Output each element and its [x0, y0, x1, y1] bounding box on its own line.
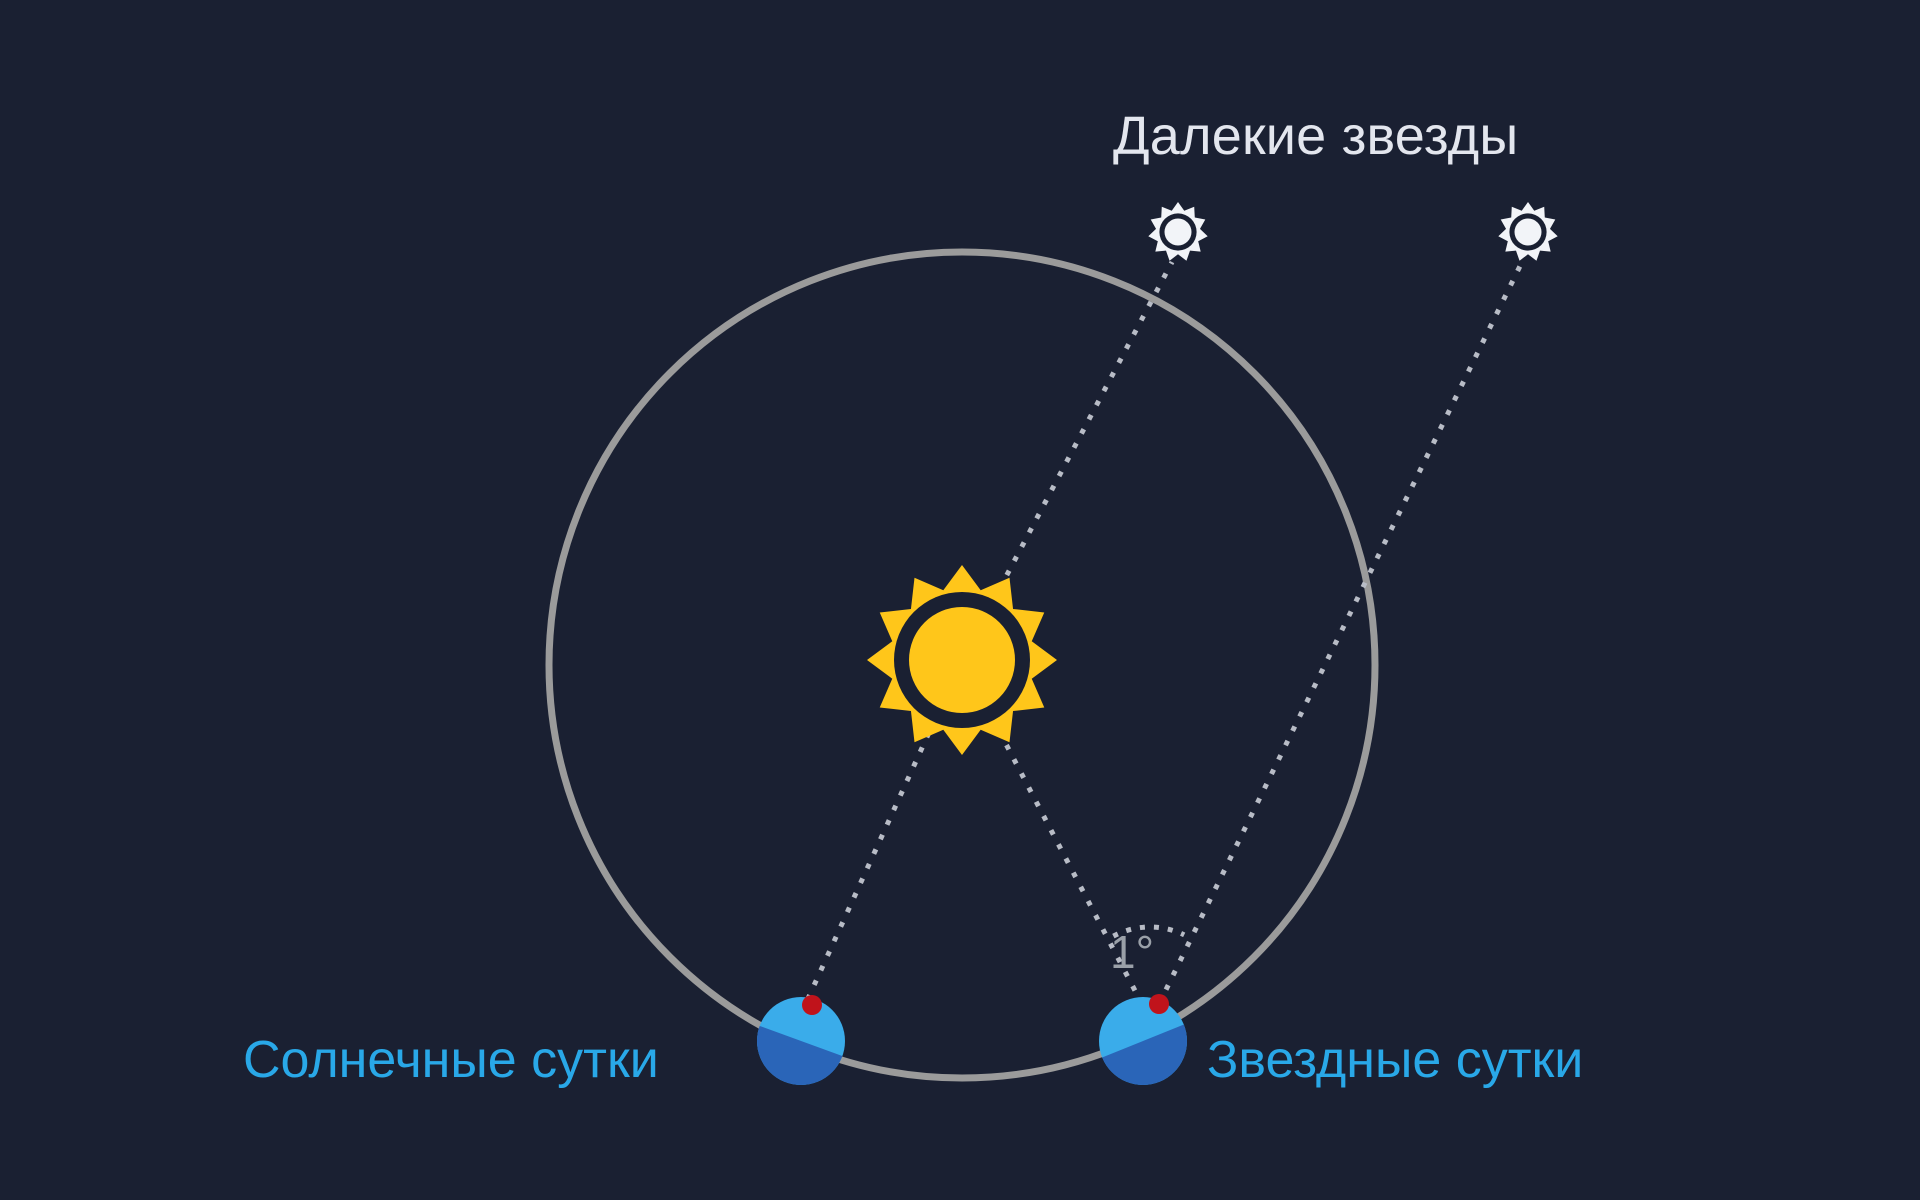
diagram-canvas: Далекие звезды Солнечные сутки Звездные …: [0, 0, 1920, 1200]
sun-icon: [867, 565, 1057, 755]
earth-sidereal-day: [1037, 994, 1299, 1200]
sidereal-day-label: Звездные сутки: [1207, 1030, 1583, 1090]
angle-degree-label: 1°: [1110, 925, 1154, 979]
earth-marker-dot: [1149, 994, 1169, 1014]
star-icon: [1498, 202, 1557, 261]
far-stars-group: [1148, 202, 1557, 261]
earth-solar-day: [648, 995, 908, 1200]
solar-day-label: Солнечные сутки: [243, 1030, 659, 1090]
scene-svg: [0, 0, 1920, 1200]
earth-marker-dot: [802, 995, 822, 1015]
star-icon: [1148, 202, 1207, 261]
earth-sidereal-to-star-2: [1159, 262, 1522, 1004]
far-stars-title: Далекие звезды: [1113, 105, 1518, 167]
